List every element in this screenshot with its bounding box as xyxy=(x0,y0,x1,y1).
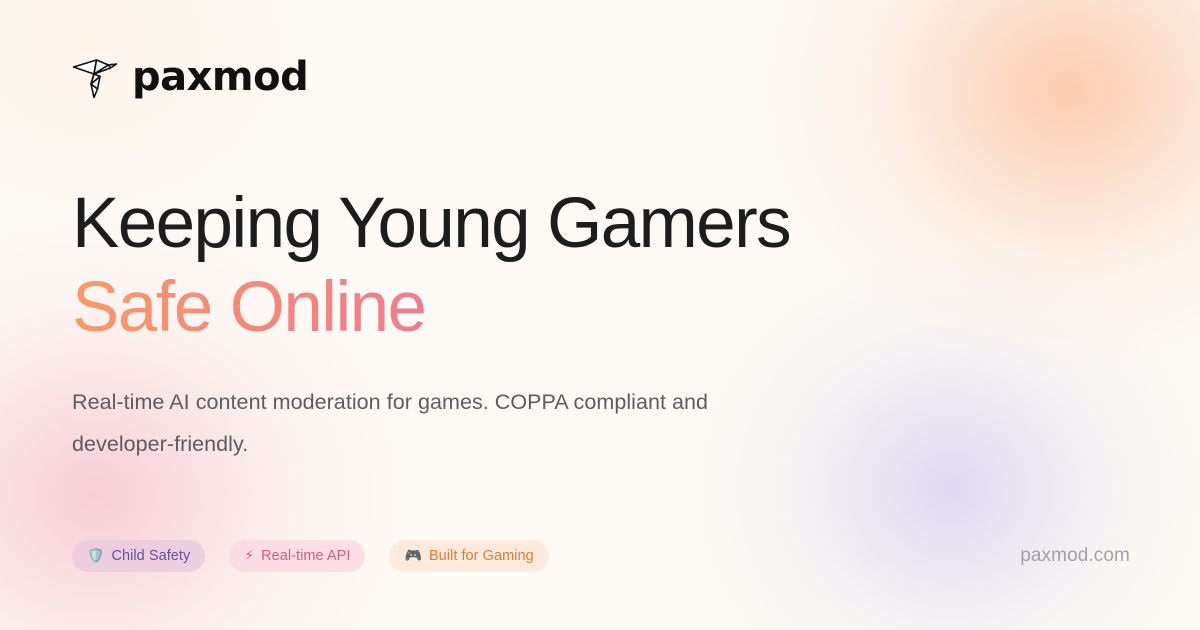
badge-realtime-api: ⚡ Real-time API xyxy=(229,540,365,572)
badge-child-safety: 🛡️ Child Safety xyxy=(72,540,205,572)
headline-line-1: Keeping Young Gamers xyxy=(72,184,790,263)
badge-built-for-gaming: 🎮 Built for Gaming xyxy=(389,540,548,572)
og-social-card: paxmod Keeping Young Gamers Safe Online … xyxy=(0,0,1200,630)
origami-dove-icon xyxy=(70,51,120,101)
page-title: Keeping Young Gamers Safe Online xyxy=(72,182,912,350)
site-url: paxmod.com xyxy=(1020,545,1130,567)
page-subtitle: Real-time AI content moderation for game… xyxy=(72,381,732,465)
lightning-bolt-icon: ⚡ xyxy=(244,549,254,563)
game-controller-icon: 🎮 xyxy=(404,549,421,563)
badge-built-for-gaming-label: Built for Gaming xyxy=(429,548,534,564)
shield-icon: 🛡️ xyxy=(87,549,104,563)
brand-logo[interactable]: paxmod xyxy=(70,51,308,101)
headline-line-2: Safe Online xyxy=(72,266,425,350)
feature-badge-list: 🛡️ Child Safety ⚡ Real-time API 🎮 Built … xyxy=(72,540,549,572)
brand-wordmark: paxmod xyxy=(132,57,308,97)
badge-child-safety-label: Child Safety xyxy=(111,548,190,564)
card-content: paxmod Keeping Young Gamers Safe Online … xyxy=(0,0,1200,630)
badge-realtime-api-label: Real-time API xyxy=(261,548,350,564)
